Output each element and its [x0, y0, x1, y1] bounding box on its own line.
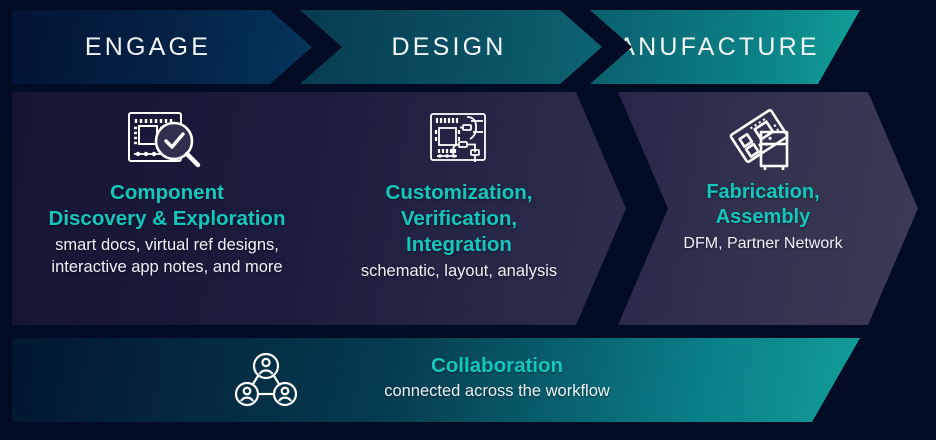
collaboration-title: Collaboration: [322, 353, 672, 379]
pcb-manufacturing-icon: [723, 106, 803, 172]
content-column-manufacture-title-line2: Assembly: [706, 205, 819, 230]
content-column-design-title-line3: Integration: [386, 232, 533, 258]
content-panel-engage-design: Component Discovery & Exploration smart …: [12, 92, 626, 325]
header-stage-engage[interactable]: ENGAGE: [12, 10, 312, 84]
content-column-manufacture[interactable]: Fabrication, Assembly DFM, Partner Netwo…: [628, 92, 898, 325]
collaboration-subtitle: connected across the workflow: [322, 381, 672, 402]
circuit-board-magnifier-check-icon: [124, 106, 210, 172]
content-column-engage-subtitle-line1: smart docs, virtual ref designs,: [51, 235, 282, 256]
content-column-manufacture-subtitle-line1: DFM, Partner Network: [683, 234, 842, 255]
content-column-engage-title-line2: Discovery & Exploration: [49, 206, 286, 232]
content-panel-manufacture: Fabrication, Assembly DFM, Partner Netwo…: [618, 92, 918, 325]
collaboration-text: Collaboration connected across the workf…: [322, 353, 672, 402]
header-stage-engage-label: ENGAGE: [85, 33, 211, 62]
header-stage-manufacture-label: MANUFACTURE: [594, 33, 819, 62]
header-stage-design-label: DESIGN: [391, 33, 506, 62]
content-column-design[interactable]: Customization, Verification, Integration…: [324, 92, 594, 325]
content-column-design-title-line2: Verification,: [386, 206, 533, 232]
content-column-design-subtitle: schematic, layout, analysis: [361, 261, 557, 282]
content-column-manufacture-title: Fabrication, Assembly: [706, 180, 819, 231]
content-column-engage-title: Component Discovery & Exploration: [49, 180, 286, 232]
content-column-engage-subtitle: smart docs, virtual ref designs, interac…: [51, 235, 282, 278]
content-column-engage-subtitle-line2: interactive app notes, and more: [51, 257, 282, 278]
content-column-design-title-line1: Customization,: [386, 180, 533, 206]
stage-content-band: Component Discovery & Exploration smart …: [0, 92, 936, 325]
people-network-icon: [230, 350, 302, 410]
header-stage-design[interactable]: DESIGN: [300, 10, 602, 84]
header-stage-manufacture[interactable]: MANUFACTURE: [590, 10, 860, 84]
content-column-design-subtitle-line1: schematic, layout, analysis: [361, 261, 557, 282]
content-column-manufacture-title-line1: Fabrication,: [706, 180, 819, 205]
content-column-manufacture-subtitle: DFM, Partner Network: [683, 234, 842, 255]
collaboration-band[interactable]: Collaboration connected across the workf…: [12, 338, 860, 422]
schematic-board-icon: [427, 106, 491, 172]
infographic-canvas: ENGAGE DESIGN MANUFACTURE: [0, 0, 936, 440]
stage-header-band: ENGAGE DESIGN MANUFACTURE: [0, 0, 936, 84]
content-column-design-title: Customization, Verification, Integration: [386, 180, 533, 258]
content-column-engage-title-line1: Component: [49, 180, 286, 206]
content-column-engage[interactable]: Component Discovery & Exploration smart …: [12, 92, 322, 325]
